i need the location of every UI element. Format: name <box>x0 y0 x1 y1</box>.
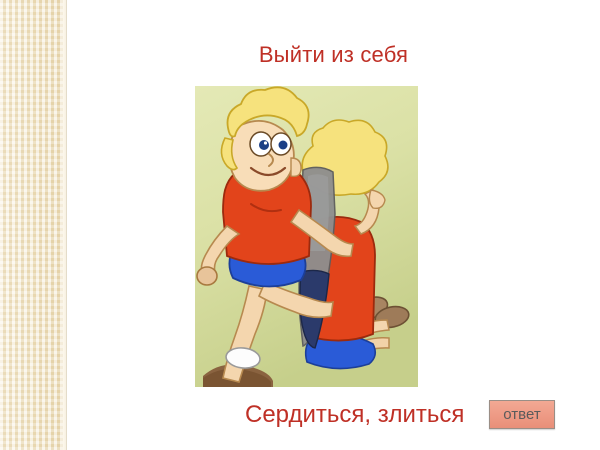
answer-button[interactable]: ответ <box>489 400 555 429</box>
sidebar-decorative-band <box>0 0 63 450</box>
slide-title: Выйти из себя <box>67 41 600 69</box>
illustration-image <box>195 86 418 387</box>
illustration-artwork <box>195 86 418 387</box>
slide-canvas: Выйти из себя <box>0 0 600 450</box>
answer-caption-text: Сердиться, злиться <box>245 400 464 430</box>
